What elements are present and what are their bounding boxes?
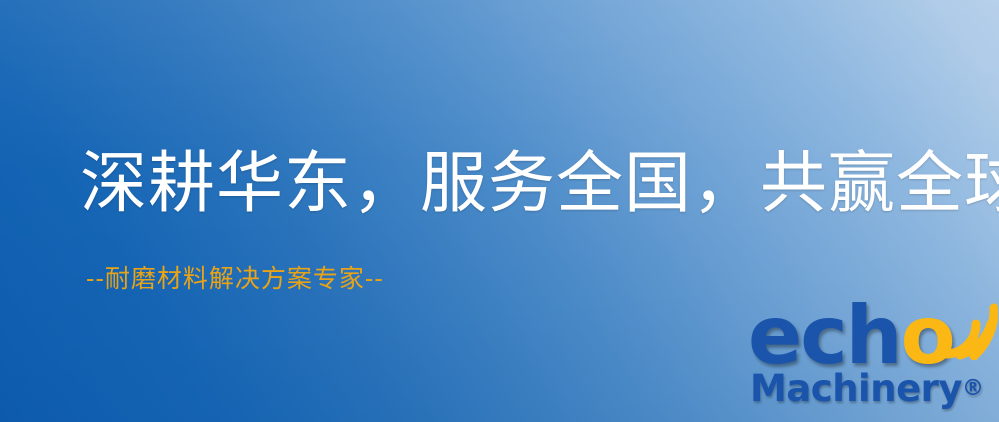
banner-subtitle: --耐磨材料解决方案专家-- [86, 264, 384, 294]
logo-tagline-text: Machinery [750, 367, 962, 410]
banner-headline: 深耕华东，服务全国，共赢全球 [80, 146, 999, 221]
wifi-signal-arcs-icon [930, 294, 998, 360]
logo-wordmark: echo [748, 296, 954, 376]
echo-machinery-logo[interactable]: echo Machinery® [748, 296, 996, 422]
promo-banner: 深耕华东，服务全国，共赢全球 --耐磨材料解决方案专家-- echo Machi… [0, 0, 999, 422]
registered-trademark-icon: ® [962, 376, 984, 401]
logo-tagline: Machinery® [750, 369, 984, 409]
